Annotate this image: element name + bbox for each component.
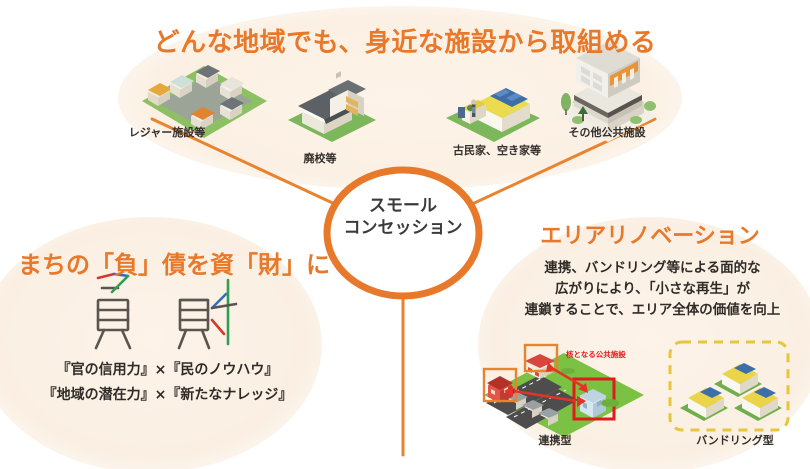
core-facility-annotation: 核となる公共施設 — [566, 349, 626, 360]
top-panel-heading: どんな地域でも、身近な施設から取組める — [0, 22, 810, 59]
caption-other-public-facility: その他公共施設 — [542, 124, 672, 140]
bundled-buildings-icon — [670, 342, 788, 430]
left-panel-line-2: 『地域の潜在力』×『新たなナレッジ』 — [10, 383, 325, 408]
right-panel-line-2: 広がりにより、「小さな再生」が — [495, 279, 810, 300]
left-panel-body: 『官の信用力』×『民のノウハウ』 『地域の潜在力』×『新たなナレッジ』 — [10, 358, 325, 407]
old-house-icon — [446, 88, 540, 142]
figure-caption-linkage: 連携型 — [500, 432, 610, 448]
school-building-icon — [288, 71, 376, 142]
highlight-box-orange-a — [484, 369, 516, 401]
left-panel-heading: まちの「負」債を資「財」に — [18, 245, 318, 280]
bundling-dashed-border — [670, 342, 788, 430]
caption-leisure-facility: レジャー施設等 — [112, 124, 222, 140]
left-panel-line-1: 『官の信用力』×『民のノウハウ』 — [10, 358, 325, 383]
right-panel-line-3: 連鎖することで、エリア全体の価値を向上 — [495, 300, 810, 321]
center-node-line2: コンセッション — [313, 217, 493, 239]
center-node-label: スモール コンセッション — [313, 195, 493, 240]
caption-closed-school: 廃校等 — [265, 150, 375, 166]
caption-old-house: 古民家、空き家等 — [432, 142, 562, 158]
center-node-line1: スモール — [313, 195, 493, 217]
highlight-box-red-core — [574, 379, 614, 419]
figure-caption-bundling: バンドリング型 — [670, 432, 800, 448]
right-panel-line-1: 連携、バンドリング等による面的な — [495, 258, 810, 279]
kanji-transform-icon — [96, 274, 236, 348]
infographic-canvas: どんな地域でも、身近な施設から取組める レジャー施設等 廃校等 古民家、空き家等… — [0, 0, 810, 469]
right-panel-heading: エリアリノベーション — [500, 218, 800, 250]
highlight-box-orange-b — [525, 345, 557, 371]
right-panel-body: 連携、バンドリング等による面的な 広がりにより、「小さな再生」が 連鎖することで… — [495, 258, 810, 321]
